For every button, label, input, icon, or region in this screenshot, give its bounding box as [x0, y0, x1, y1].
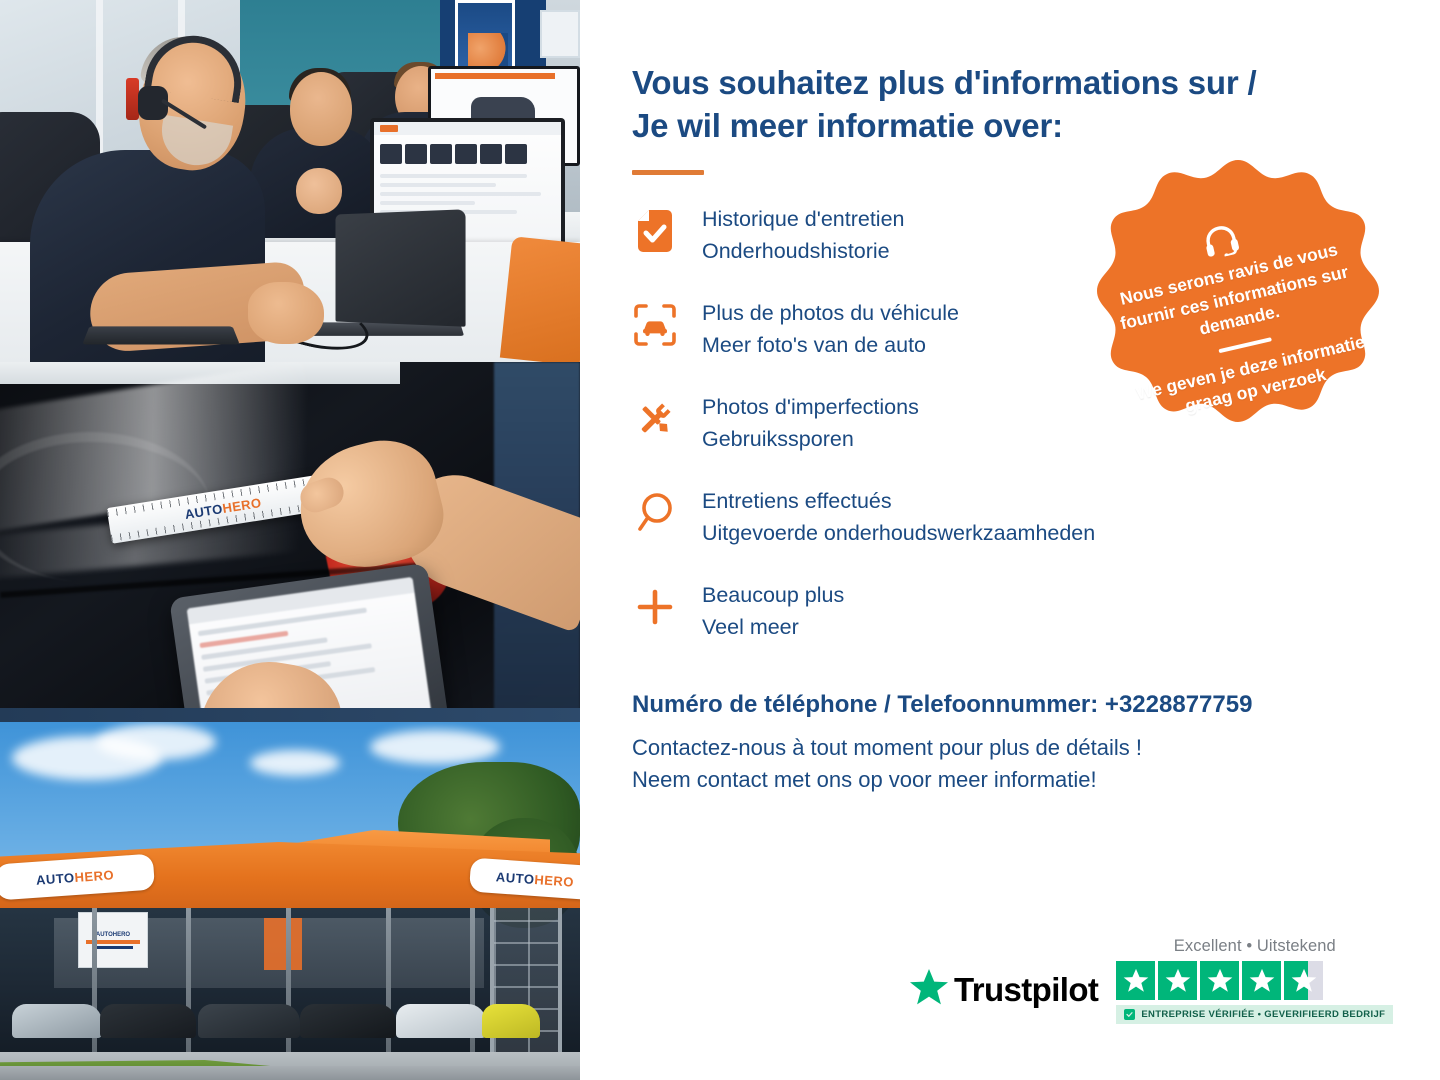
headline-line-fr: Vous souhaitez plus d'informations sur / — [632, 64, 1256, 101]
tools-icon — [632, 389, 678, 449]
list-item-label: Photos d'imperfections Gebruikssporen — [702, 389, 919, 456]
list-item-label: Entretiens effectués Uitgevoerde onderho… — [702, 483, 1095, 550]
photo-column: AUTOHERO — [0, 0, 580, 1080]
headline-line-nl: Je wil meer informatie over: — [632, 107, 1063, 144]
contact-line-fr: Contactez-nous à tout moment pour plus d… — [632, 732, 1392, 764]
rating-star — [1116, 961, 1155, 1000]
rating-star — [1242, 961, 1281, 1000]
rating-star-partial — [1284, 961, 1323, 1000]
plus-icon — [632, 577, 678, 637]
document-check-icon — [632, 201, 678, 261]
headset-icon — [1200, 222, 1243, 266]
magnifier-icon — [632, 483, 678, 543]
page-title: Vous souhaitez plus d'informations sur /… — [632, 62, 1392, 148]
trustpilot-brand-label: Trustpilot — [954, 971, 1098, 1009]
car-viewfinder-icon — [632, 295, 678, 355]
check-icon — [1124, 1009, 1135, 1020]
verified-label: ENTREPRISE VÉRIFIÉE • GEVERIFIEERD BEDRI… — [1141, 1009, 1385, 1020]
autohero-dealership-photo: AUTOHERO AUTOHERO AUTOHERO — [0, 722, 580, 1080]
callout-badge: Nous serons ravis de vous fournir ces in… — [1078, 154, 1398, 474]
list-item: Beaucoup plus Veel meer — [632, 577, 1392, 649]
content-panel: Vous souhaitez plus d'informations sur /… — [580, 0, 1440, 1080]
info-card-page: AUTOHERO — [0, 0, 1440, 1080]
list-item: Entretiens effectués Uitgevoerde onderho… — [632, 483, 1392, 555]
trustpilot-star-icon — [910, 969, 948, 1010]
vehicle-inspection-photo: AUTOHERO — [0, 362, 580, 722]
phone-number-label[interactable]: Numéro de téléphone / Telefoonnummer: +3… — [632, 691, 1392, 719]
list-item-label: Plus de photos du véhicule Meer foto's v… — [702, 295, 959, 362]
rating-star — [1158, 961, 1197, 1000]
rating-star — [1200, 961, 1239, 1000]
contact-line-nl: Neem contact met ons op voor meer inform… — [632, 764, 1392, 796]
trustpilot-rating-caption: Excellent • Uitstekend — [1116, 937, 1393, 956]
verified-business-badge: ENTREPRISE VÉRIFIÉE • GEVERIFIEERD BEDRI… — [1116, 1005, 1393, 1024]
list-item-label: Historique d'entretien Onderhoudshistori… — [702, 201, 905, 268]
contact-block: Numéro de téléphone / Telefoonnummer: +3… — [632, 691, 1392, 796]
list-item-label: Beaucoup plus Veel meer — [702, 577, 844, 644]
title-divider — [632, 170, 704, 175]
badge-divider — [1218, 337, 1272, 353]
trustpilot-stars — [1116, 961, 1393, 1000]
call-center-agents-photo — [0, 0, 580, 362]
trustpilot-widget[interactable]: Trustpilot Excellent • Uitstekend — [910, 937, 1393, 1024]
trustpilot-logo: Trustpilot — [910, 969, 1098, 1024]
showroom-poster: AUTOHERO — [78, 912, 148, 968]
